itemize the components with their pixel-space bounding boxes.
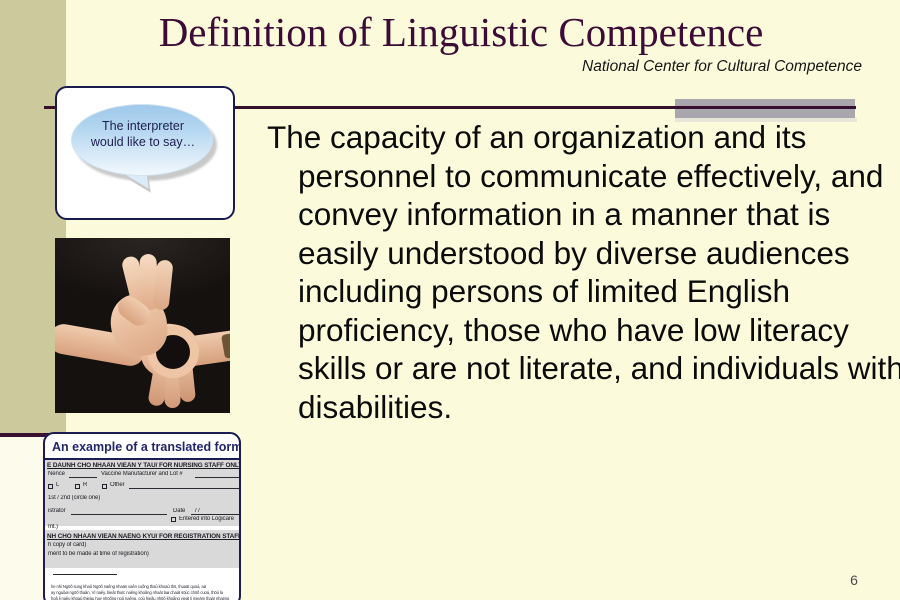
translated-form-heading: An example of a translated form [52, 440, 240, 454]
form-registration-header: NH CHO NHAÂN VIEÂN ÑAÊNG KYÙ/ FOR REGIST… [47, 533, 241, 540]
speech-bubble-text: The interpreter would like to say… [73, 118, 213, 150]
form-checkbox-left[interactable] [48, 484, 53, 489]
form-administrator-label: istrator [48, 508, 66, 514]
form-fine-print-3: hoâ li naêu khoaû thieàu hay nhöõng noû … [51, 596, 241, 600]
speech-bubble-card: The interpreter would like to say… [55, 86, 235, 220]
form-copy-line: h copy of card) [48, 542, 86, 548]
form-manufacturer-label: Vaccine Manufacturer and Lot # [101, 471, 183, 477]
form-checkbox-right-label: R [83, 482, 87, 488]
form-fine-print-1: he nhi Ngöõ sung khaû Ngöõ naêng nhaän v… [51, 584, 241, 589]
form-signature-rule [53, 574, 117, 575]
form-date-label: Date [173, 508, 185, 514]
form-checkbox-entered[interactable] [171, 517, 176, 522]
slide: Definition of Linguistic Competence Nati… [0, 0, 900, 600]
form-dose-circle-one: 1st / 2nd (circle one) [48, 495, 100, 501]
form-site-rule [69, 477, 97, 478]
form-entered-label: Entered into Logicare [179, 516, 234, 522]
form-manufacturer-rule [195, 477, 239, 478]
form-fine-print-2: ay nguôøi ngöõ thaân, Vì naêy, bieát thu… [51, 590, 241, 595]
definition-body-text: The capacity of an organization and its … [267, 118, 900, 426]
form-checkbox-left-label: L [56, 482, 59, 488]
form-administrator-rule [71, 514, 167, 515]
speech-bubble-line-2: would like to say… [73, 134, 213, 150]
form-site-label: Nence [48, 471, 65, 477]
form-nursing-header: E DAÙNH CHO NHAÂN VIEÂN Y TAÙ/ FOR NURSI… [47, 462, 241, 469]
form-checkbox-other-label: Other [110, 482, 125, 488]
asl-signing-photo [55, 238, 230, 413]
form-other-rule [129, 488, 239, 489]
translated-form-card: An example of a translated form E DAÙNH … [43, 432, 241, 600]
form-payment-line: ment to be made at time of registration) [48, 551, 149, 557]
speech-bubble-graphic: The interpreter would like to say… [67, 101, 225, 206]
page-title: Definition of Linguistic Competence [66, 8, 856, 56]
slide-subtitle: National Center for Cultural Competence [0, 58, 862, 76]
form-checkbox-right[interactable] [75, 484, 80, 489]
form-date-rule [191, 514, 239, 515]
form-checkbox-other[interactable] [102, 484, 107, 489]
page-number: 6 [840, 572, 868, 588]
speech-bubble-line-1: The interpreter [73, 118, 213, 134]
form-initials-label: Int.) [48, 524, 58, 530]
gray-tab-shadow [675, 118, 857, 122]
